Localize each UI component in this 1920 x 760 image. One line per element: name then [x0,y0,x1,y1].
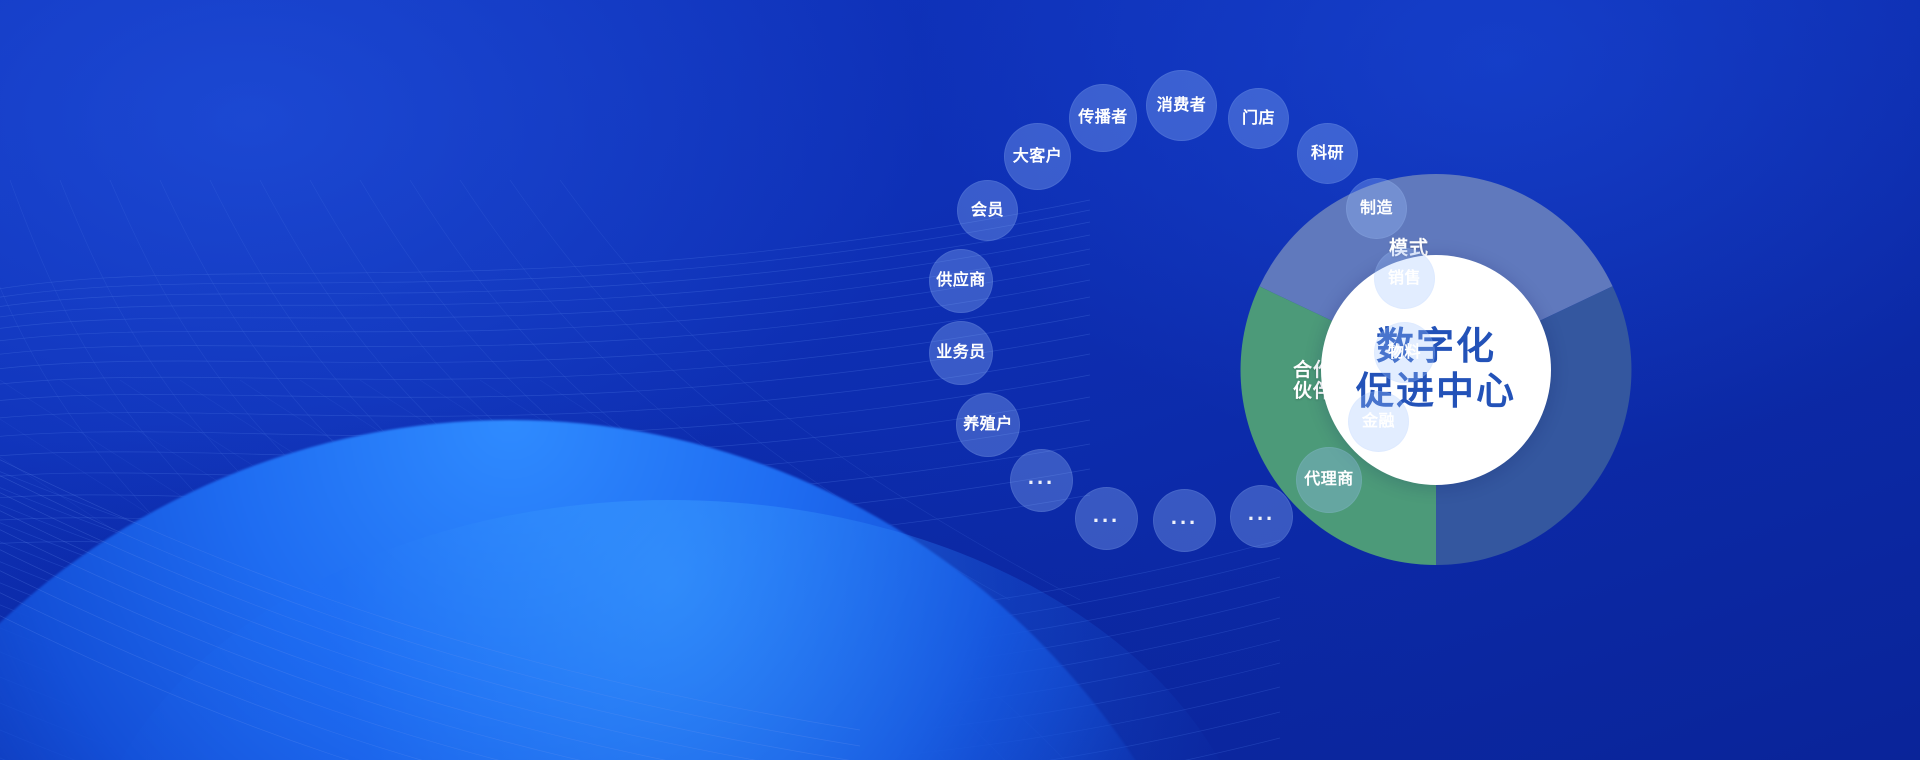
orbit-bubble[interactable]: 代理商 [1296,447,1362,513]
orbit-bubble-label: 门店 [1242,110,1275,128]
orbit-bubble[interactable]: 传播者 [1069,84,1137,152]
orbit-bubble-more[interactable]: ... [1075,487,1138,550]
orbit-bubble-more[interactable]: ... [1010,449,1073,512]
orbit-bubble-label: 传播者 [1078,109,1128,127]
orbit-bubble[interactable]: 消费者 [1146,70,1217,141]
orbit-bubble-label: ... [1171,505,1198,529]
orbit-bubble-label: 销售 [1388,270,1421,288]
orbit-bubble-label: ... [1028,465,1055,489]
orbit-bubble[interactable]: 科研 [1297,123,1358,184]
orbit-bubble-label: 会员 [971,202,1004,220]
orbit-bubble-label: 大客户 [1013,148,1063,166]
orbit-bubble[interactable]: 金融 [1348,391,1409,452]
orbit-bubble-label: 金融 [1362,413,1395,431]
orbit-bubble-label: 代理商 [1304,471,1354,489]
orbit-bubble-label: 供应商 [936,272,986,290]
orbit-bubble-more[interactable]: ... [1153,489,1216,552]
hub-circle: 数字化 促进中心 [1321,255,1551,485]
orbit-bubble-label: 科研 [1311,145,1344,163]
orbit-bubble-more[interactable]: ... [1230,485,1293,548]
orbit-bubble-label: ... [1093,503,1120,527]
orbit-bubble[interactable]: 会员 [957,180,1018,241]
orbit-bubble[interactable]: 门店 [1228,88,1289,149]
orbit-bubble[interactable]: 供应商 [929,249,993,313]
orbit-bubble[interactable]: 养殖户 [956,393,1020,457]
orbit-bubble[interactable]: 物料 [1374,322,1435,383]
orbit-bubble-label: 业务员 [936,344,986,362]
banner-canvas: 模式 合作 伙伴 用户 数字化 促进中心 传播者消费者门店科研制造销售物料金融代… [0,0,1920,760]
orbit-bubble-label: 制造 [1360,200,1393,218]
orbit-bubble-label: 物料 [1388,344,1421,362]
orbit-bubble-label: ... [1248,501,1275,525]
orbit-bubble-label: 养殖户 [963,416,1013,434]
orbit-bubble[interactable]: 销售 [1374,248,1435,309]
orbit-bubble-label: 消费者 [1157,97,1207,115]
orbit-bubble[interactable]: 大客户 [1004,123,1071,190]
orbit-bubble[interactable]: 业务员 [929,321,993,385]
orbit-bubble[interactable]: 制造 [1346,178,1407,239]
